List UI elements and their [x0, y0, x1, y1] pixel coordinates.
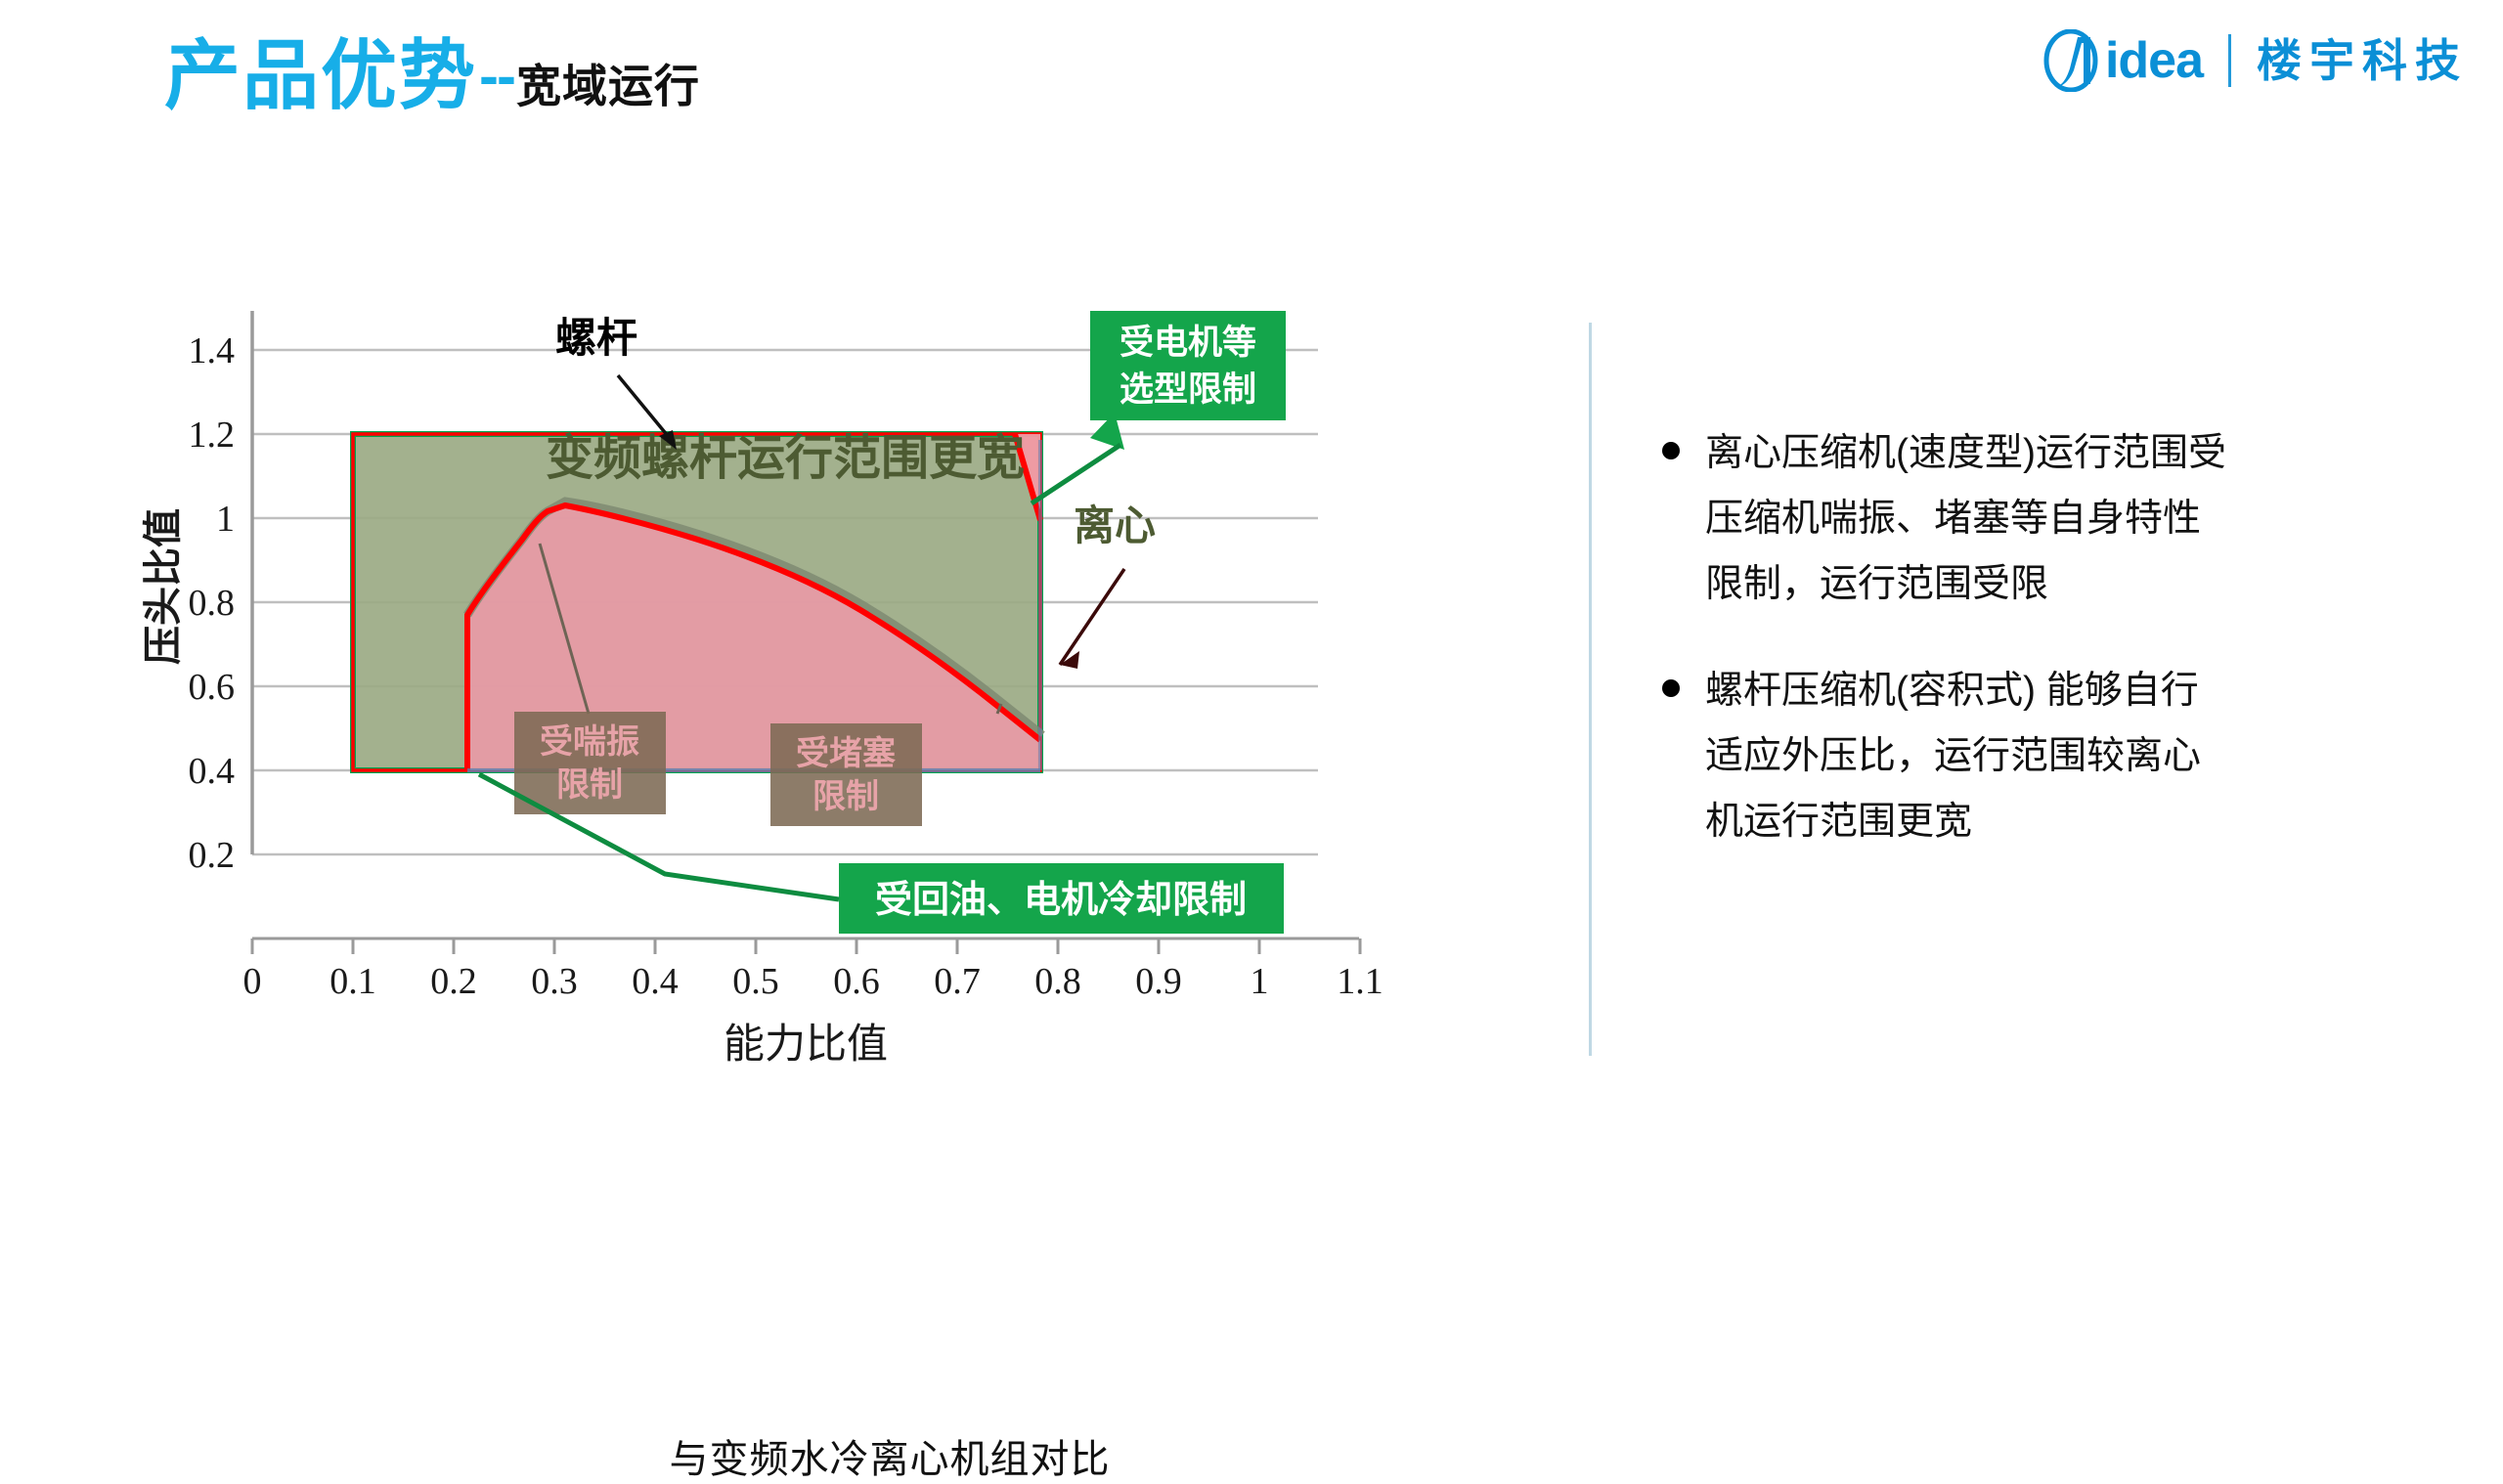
x-tick-label: 0.2 — [430, 961, 477, 1002]
x-tick-label: 0 — [243, 961, 262, 1002]
x-tick-label: 0.5 — [732, 961, 779, 1002]
page-title-dash: -- — [477, 47, 516, 106]
list-item: 螺杆压缩机(容积式) 能够自行 适应外压比，运行范围较离心 机运行范围更宽 — [1662, 658, 2405, 854]
bullet-text: 螺杆压缩机(容积式) 能够自行 适应外压比，运行范围较离心 机运行范围更宽 — [1705, 658, 2201, 854]
svg-text:限制: 限制 — [556, 766, 623, 804]
y-tick-label: 0.8 — [189, 583, 236, 624]
x-tick-label: 1 — [1251, 961, 1269, 1002]
oil-return-limit-callout: 受回油、电机冷却限制 — [839, 863, 1284, 934]
x-tick-label: 0.6 — [833, 961, 880, 1002]
centrifugal-label: 离心 — [1074, 502, 1156, 548]
chart-x-axis-title: 能力比值 — [724, 1021, 888, 1067]
svg-text:受堵塞: 受堵塞 — [796, 735, 896, 772]
logo-divider — [2228, 34, 2231, 87]
content-divider — [1589, 323, 1592, 1056]
motor-selection-limit-callout: 受电机等 选型限制 — [1090, 311, 1286, 450]
page-title: 产品优势 -- 宽域运行 — [164, 37, 700, 113]
page-title-sub: 宽域运行 — [516, 64, 700, 109]
bullet-text: 离心压缩机(速度型)运行范围受 压缩机喘振、堵塞等自身特性 限制，运行范围受限 — [1705, 420, 2226, 617]
chart-x-tick-labels: 0 0.1 0.2 0.3 0.4 0.5 0.6 0.7 0.8 0.9 1 … — [243, 961, 1383, 1002]
motor-callout-leader — [1032, 445, 1120, 503]
x-tick-label: 0.3 — [531, 961, 578, 1002]
bullet-dot-icon — [1662, 442, 1680, 459]
svg-text:受喘振: 受喘振 — [540, 723, 639, 761]
wide-range-label: 变频螺杆运行范围更宽 — [546, 432, 1025, 485]
bullet-line: 螺杆压缩机(容积式) 能够自行 — [1705, 658, 2201, 723]
x-tick-label: 0.8 — [1034, 961, 1081, 1002]
y-tick-label: 1 — [216, 499, 235, 540]
bullet-list: 离心压缩机(速度型)运行范围受 压缩机喘振、堵塞等自身特性 限制，运行范围受限 … — [1662, 420, 2405, 895]
y-tick-label: 1.4 — [189, 330, 236, 371]
x-tick-label: 1.1 — [1337, 961, 1383, 1002]
x-tick-label: 0.7 — [934, 961, 981, 1002]
y-tick-label: 1.2 — [189, 415, 236, 456]
x-tick-label: 0.9 — [1135, 961, 1182, 1002]
surge-limit-label: 受喘振 限制 — [514, 712, 666, 814]
bullet-line: 压缩机喘振、堵塞等自身特性 — [1705, 486, 2226, 551]
y-tick-label: 0.4 — [189, 751, 236, 792]
bullet-line: 机运行范围更宽 — [1705, 789, 2201, 854]
chart-y-tick-labels: 1.4 1.2 1 0.8 0.6 0.4 0.2 — [189, 330, 236, 876]
y-tick-label: 0.2 — [189, 835, 236, 876]
logo-cn-name: 楼宇科技 — [2257, 38, 2468, 83]
svg-text:受电机等: 受电机等 — [1120, 324, 1256, 362]
midea-wordmark: idea — [2105, 35, 2203, 86]
brand-logo: idea 楼宇科技 — [2039, 27, 2468, 94]
y-tick-label: 0.6 — [189, 667, 236, 708]
svg-text:选型限制: 选型限制 — [1120, 371, 1256, 409]
x-tick-label: 0.1 — [329, 961, 376, 1002]
choke-limit-label: 受堵塞 限制 — [770, 723, 922, 826]
svg-text:受回油、电机冷却限制: 受回油、电机冷却限制 — [875, 880, 1247, 921]
operating-range-chart: 变频螺杆运行范围更宽 离心 螺杆 受喘振 限制 受堵塞 限制 受电机等 选型限制 — [137, 293, 1564, 1222]
chart-x-ticks — [252, 938, 1360, 954]
chart-y-axis-title: 压头比值 — [142, 508, 185, 665]
bullet-line: 离心压缩机(速度型)运行范围受 — [1705, 420, 2226, 486]
bullet-line: 限制，运行范围受限 — [1705, 551, 2226, 617]
bullet-line: 适应外压比，运行范围较离心 — [1705, 723, 2201, 789]
screw-label: 螺杆 — [555, 315, 637, 361]
centrifugal-leader — [1060, 569, 1124, 665]
page-title-main: 产品优势 — [164, 37, 477, 113]
chart-caption: 与变频水冷离心机组对比 — [137, 1427, 1643, 1484]
midea-ellipse-m-icon — [2039, 29, 2111, 92]
x-tick-label: 0.4 — [632, 961, 679, 1002]
svg-text:限制: 限制 — [812, 778, 879, 815]
list-item: 离心压缩机(速度型)运行范围受 压缩机喘振、堵塞等自身特性 限制，运行范围受限 — [1662, 420, 2405, 617]
bullet-dot-icon — [1662, 679, 1680, 697]
